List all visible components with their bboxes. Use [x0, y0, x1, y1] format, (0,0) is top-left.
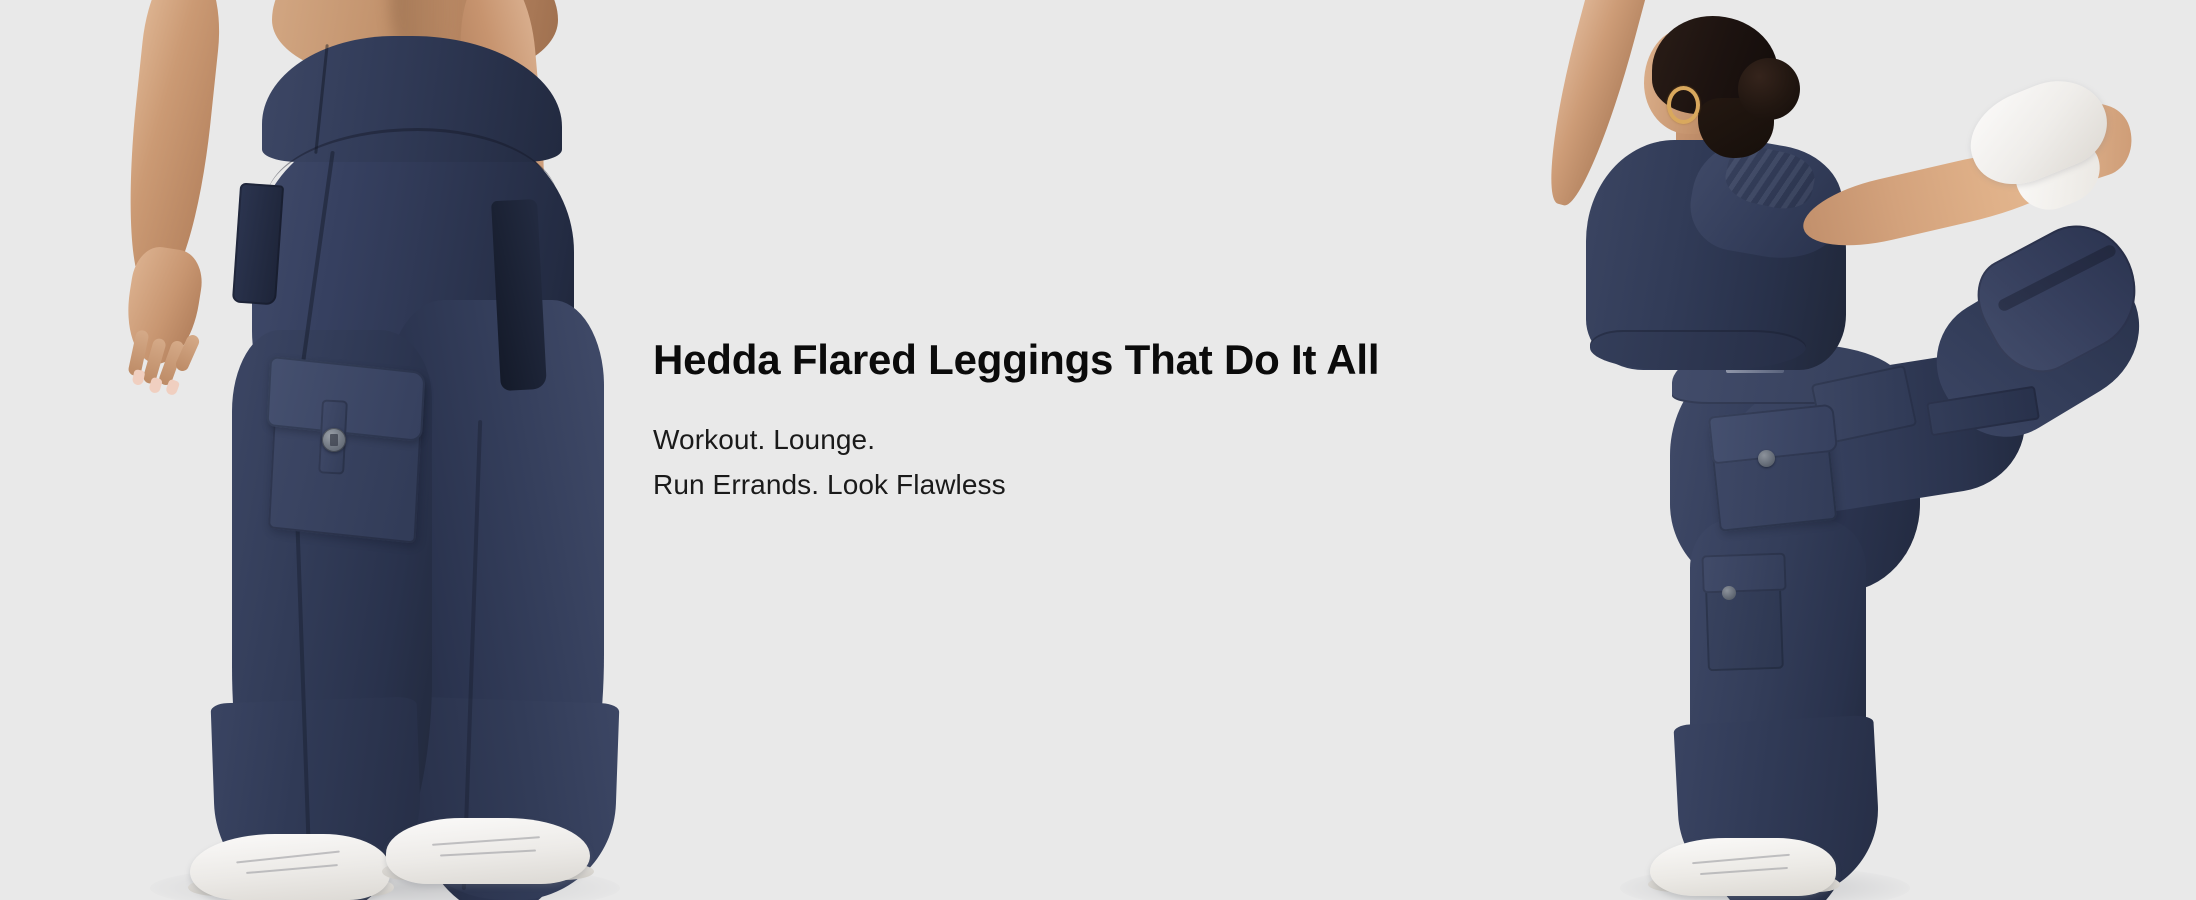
right-model-cargo-pocket-hip-button — [1758, 450, 1775, 467]
left-model-fingernail — [132, 369, 146, 386]
banner-subline-1: Workout. Lounge. — [653, 417, 1603, 462]
right-model-hair-bun — [1738, 58, 1800, 120]
right-model-cargo-pocket-thigh-flap — [1701, 553, 1786, 594]
banner-headline: Hedda Flared Leggings That Do It All — [653, 336, 1603, 383]
left-model-left-shoe — [190, 834, 390, 900]
left-model-cargo-pocket-button — [322, 428, 346, 452]
left-model-side-pocket — [491, 199, 547, 391]
banner-subcopy: Workout. Lounge. Run Errands. Look Flawl… — [653, 383, 1603, 508]
left-model-hip-pocket — [232, 183, 284, 306]
right-model-hoop-earring — [1667, 86, 1700, 124]
left-model-fingernail — [148, 377, 163, 394]
banner-copy: Hedda Flared Leggings That Do It All Wor… — [653, 336, 1603, 508]
right-model-cargo-pocket-thigh-button — [1722, 586, 1736, 600]
promo-banner: Hedda Flared Leggings That Do It All Wor… — [0, 0, 2196, 900]
left-model-image[interactable] — [0, 0, 660, 900]
right-model-standing-shoe — [1650, 838, 1836, 896]
right-model-crop-top-hem — [1590, 330, 1806, 370]
right-model-image[interactable] — [1530, 0, 2196, 900]
banner-subline-2: Run Errands. Look Flawless — [653, 462, 1603, 507]
